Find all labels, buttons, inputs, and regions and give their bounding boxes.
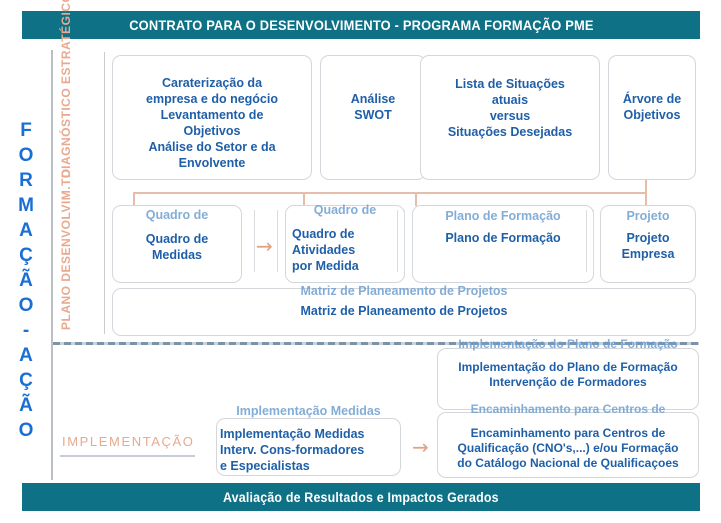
vertical-title-letter: F	[20, 118, 32, 143]
arrow-right-icon-2: →	[412, 437, 429, 457]
stage-label-plano-desenvolvimento: PLANO DESENVOLVIM.TO	[60, 210, 73, 330]
text-line: Empresa	[600, 246, 696, 262]
text-matriz-planeamento: Matriz de Planeamento de Projetos	[112, 303, 696, 319]
text-quadro-medidas-ghost: Quadro de	[112, 207, 242, 223]
text-projeto-ghost: Projeto	[600, 208, 696, 224]
text-line: Caraterização da	[112, 75, 312, 91]
text-line: Qualificação (CNO's,...) e/ou Formação	[437, 441, 699, 456]
separator-quadro	[254, 210, 255, 272]
text-line: Atividades	[292, 242, 402, 258]
text-projeto-empresa: Projeto Empresa	[600, 230, 696, 262]
text-line: por Medida	[292, 258, 402, 274]
vertical-title-letter: M	[18, 193, 34, 218]
text-line: Quadro de	[292, 226, 402, 242]
text-line: Intervenção de Formadores	[437, 375, 699, 390]
text-encaminhamento-ghost: Encaminhamento para Centros de	[437, 402, 699, 417]
vertical-title-letter: R	[19, 168, 33, 193]
vertical-title-letter: O	[19, 293, 34, 318]
text-line: Envolvente	[112, 155, 312, 171]
text-line: Implementação Medidas	[220, 426, 400, 442]
text-line: Levantamento de	[112, 107, 312, 123]
text-line: Análise do Setor e da	[112, 139, 312, 155]
vertical-title-letter: Ã	[19, 268, 33, 293]
vertical-title-letter: A	[19, 218, 33, 243]
text-caraterizacao: Caraterização da empresa e do negócio Le…	[112, 75, 312, 171]
text-line: Interv. Cons-formadores	[220, 442, 400, 458]
connector-drop-mid2	[415, 192, 417, 206]
text-line: Situações Desejadas	[420, 124, 600, 140]
separator-atividades	[277, 210, 278, 272]
text-line: empresa e do negócio	[112, 91, 312, 107]
text-line: Projeto	[600, 230, 696, 246]
text-implementacao-medidas: Implementação Medidas Interv. Cons-forma…	[220, 426, 400, 474]
stage-label-implementacao-underline	[60, 455, 195, 457]
vertical-title-letter: Ã	[19, 393, 33, 418]
vertical-title-letter: Ç	[19, 243, 33, 268]
text-encaminhamento-centros: Encaminhamento para Centros de Qualifica…	[437, 426, 699, 471]
diagram-canvas: CONTRATO PARA O DESENVOLVIMENTO - PROGRA…	[0, 0, 721, 523]
connector-drop-right	[645, 180, 647, 206]
text-line: do Catálogo Nacional de Qualificaçoes	[437, 456, 699, 471]
vertical-title-formacao-acao: F O R M A Ç Ã O - A Ç Ã O	[8, 118, 44, 443]
arrow-right-icon: →	[256, 236, 273, 256]
text-line: atuais	[420, 92, 600, 108]
text-line: Objetivos	[112, 123, 312, 139]
text-arvore-objetivos: Árvore de Objetivos	[608, 91, 696, 123]
footer-title: Avaliação de Resultados e Impactos Gerad…	[223, 490, 499, 505]
text-implementacao-plano-ghost: Implementação do Plano de Formação	[437, 337, 699, 352]
vertical-title-letter: O	[19, 418, 34, 443]
text-line: Análise	[320, 91, 426, 107]
stage-label-divider	[104, 52, 105, 334]
connector-drop-left	[133, 192, 135, 206]
text-implementacao-plano-formacao: Implementação do Plano de Formação Inter…	[437, 360, 699, 390]
text-matriz-ghost: Matriz de Planeamento de Projetos	[112, 283, 696, 299]
text-implementacao-medidas-ghost: Implementação Medidas	[216, 403, 401, 419]
text-analise-swot: Análise SWOT	[320, 91, 426, 123]
text-line: e Especialistas	[220, 458, 400, 474]
header-bar: CONTRATO PARA O DESENVOLVIMENTO - PROGRA…	[23, 12, 699, 38]
vertical-title-letter: Ç	[19, 368, 33, 393]
text-line: SWOT	[320, 107, 426, 123]
vertical-title-letter: A	[19, 343, 33, 368]
text-line: Medidas	[112, 247, 242, 263]
text-line: Objetivos	[608, 107, 696, 123]
text-line: Plano de Formação	[412, 230, 594, 246]
text-plano-formacao-ghost: Plano de Formação	[412, 208, 594, 224]
connector-horizontal	[133, 192, 645, 194]
footer-bar: Avaliação de Resultados e Impactos Gerad…	[23, 484, 699, 510]
text-line: Quadro de	[112, 231, 242, 247]
text-quadro-atividades: Quadro de Atividades por Medida	[292, 226, 402, 274]
vertical-title-letter: -	[23, 318, 29, 343]
stage-label-implementacao: IMPLEMENTAÇÃO	[62, 434, 195, 449]
text-quadro-atividades-ghost: Quadro de	[285, 202, 405, 218]
text-quadro-medidas: Quadro de Medidas	[112, 231, 242, 263]
separator-plano-2	[404, 210, 405, 272]
left-vertical-divider	[51, 50, 53, 480]
text-plano-formacao: Plano de Formação	[412, 230, 594, 246]
text-line: Implementação do Plano de Formação	[437, 360, 699, 375]
text-line: versus	[420, 108, 600, 124]
text-line: Encaminhamento para Centros de	[437, 426, 699, 441]
text-line: Lista de Situações	[420, 76, 600, 92]
text-line: Árvore de	[608, 91, 696, 107]
stage-label-diagnostico-estrategico: DIAGNÓSTICO ESTRATÉGICO	[60, 48, 73, 178]
text-lista-situacoes: Lista de Situações atuais versus Situaçõ…	[420, 76, 600, 140]
vertical-title-letter: O	[19, 143, 34, 168]
header-title: CONTRATO PARA O DESENVOLVIMENTO - PROGRA…	[129, 17, 594, 33]
